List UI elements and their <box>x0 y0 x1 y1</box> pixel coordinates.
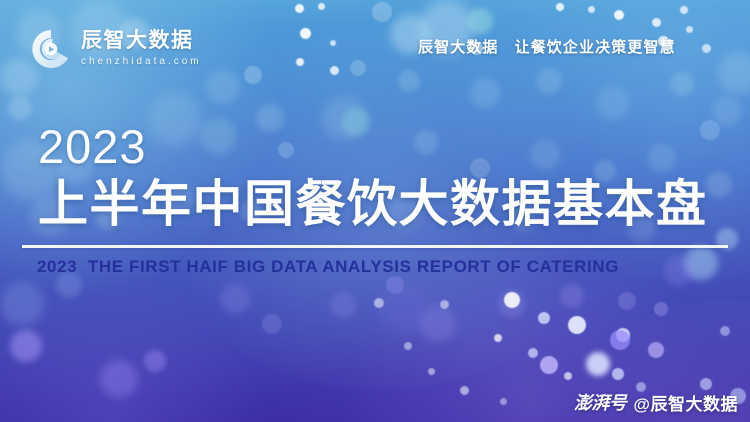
bokeh-circle <box>318 3 325 10</box>
bokeh-circle <box>618 292 636 310</box>
page-title: 上半年中国餐饮大数据基本盘 <box>38 176 728 232</box>
brand-logo-text: 辰智大数据 chenzhidata.com <box>81 29 202 69</box>
bokeh-circle <box>586 352 610 376</box>
watermark-platform-name: 澎湃号 <box>574 389 627 415</box>
bokeh-circle <box>330 292 356 318</box>
bokeh-circle <box>460 386 469 395</box>
bokeh-circle <box>206 70 240 104</box>
bokeh-circle <box>404 342 412 350</box>
report-subtitle-english: 2023 THE FIRST HAIF BIG DATA ANALYSIS RE… <box>37 257 619 277</box>
bokeh-circle <box>350 60 366 76</box>
brand-logo: 辰智大数据 chenzhidata.com <box>30 28 202 70</box>
bokeh-circle <box>610 330 630 350</box>
bokeh-circle <box>568 316 586 334</box>
bokeh-circle <box>330 66 339 75</box>
bokeh-circle <box>718 52 750 94</box>
bokeh-circle <box>300 28 311 39</box>
report-year: 2023 <box>38 123 728 170</box>
headline-block: 2023 上半年中国餐饮大数据基本盘 <box>38 123 728 232</box>
chenzhi-c-logo-icon <box>30 28 72 70</box>
bokeh-circle <box>712 96 742 126</box>
bokeh-circle <box>0 282 44 326</box>
title-divider <box>22 245 728 248</box>
bokeh-circle <box>612 368 624 380</box>
bokeh-circle <box>560 284 584 308</box>
bokeh-circle <box>296 58 304 66</box>
bokeh-circle <box>398 70 420 92</box>
bokeh-circle <box>428 368 435 375</box>
brand-domain: chenzhidata.com <box>81 54 202 69</box>
bokeh-circle <box>295 4 304 13</box>
bokeh-circle <box>440 300 449 309</box>
bokeh-circle <box>470 78 500 108</box>
bokeh-circle <box>670 72 694 96</box>
bokeh-circle <box>686 26 693 33</box>
bokeh-circle <box>564 372 572 380</box>
bokeh-circle <box>420 306 456 342</box>
bokeh-circle <box>330 40 336 46</box>
bokeh-circle <box>8 96 32 120</box>
bokeh-circle <box>540 356 558 374</box>
bokeh-circle <box>504 292 520 308</box>
bokeh-circle <box>100 360 138 398</box>
bokeh-circle <box>374 298 384 308</box>
bokeh-circle <box>372 2 392 22</box>
bokeh-circle <box>652 18 661 27</box>
bokeh-circle <box>500 398 507 405</box>
publisher-watermark: 澎湃号 @辰智大数据 <box>574 389 738 415</box>
bokeh-circle <box>386 276 404 294</box>
bokeh-circle <box>654 302 668 316</box>
bokeh-circle <box>144 350 166 372</box>
brand-name: 辰智大数据 <box>81 29 202 52</box>
bokeh-circle <box>616 328 630 342</box>
background-wash <box>250 330 550 422</box>
bokeh-circle <box>536 68 562 94</box>
bokeh-circle <box>538 312 550 324</box>
bokeh-circle <box>720 326 730 336</box>
bokeh-circle <box>702 44 711 53</box>
bokeh-circle <box>556 3 564 11</box>
bokeh-circle <box>262 314 282 334</box>
bokeh-circle <box>684 246 718 280</box>
bokeh-circle <box>467 8 493 34</box>
background-wash <box>0 280 280 422</box>
bokeh-circle <box>648 342 664 358</box>
bokeh-circle <box>10 330 42 362</box>
bokeh-circle <box>680 6 688 14</box>
bokeh-circle <box>380 282 432 334</box>
brand-tagline: 辰智大数据 让餐饮企业决策更智慧 <box>418 36 676 57</box>
bokeh-circle <box>664 256 694 286</box>
bokeh-circle <box>588 6 595 13</box>
report-cover-poster: 辰智大数据 chenzhidata.com 辰智大数据 让餐饮企业决策更智慧 2… <box>0 0 750 422</box>
bokeh-circle <box>494 334 502 342</box>
bokeh-circle <box>244 66 262 84</box>
bokeh-circle <box>614 10 624 20</box>
bokeh-circle <box>596 86 630 120</box>
bokeh-circle <box>498 290 526 318</box>
bokeh-circle <box>220 284 250 314</box>
bokeh-circle <box>528 348 538 358</box>
watermark-account-handle: @辰智大数据 <box>633 390 738 415</box>
